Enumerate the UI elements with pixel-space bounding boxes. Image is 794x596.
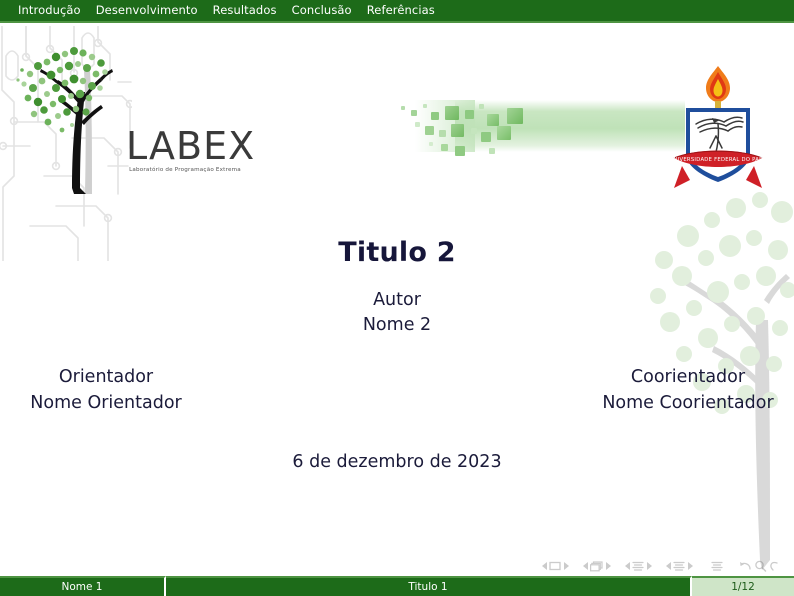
presentation-title: Titulo 2 <box>0 236 794 270</box>
seal-institution-text: UNIVERSIDADE FEDERAL DO PARÁ <box>672 156 764 163</box>
footer-author: Nome 1 <box>0 576 166 596</box>
navbar-underline <box>0 23 794 26</box>
mosaic-square <box>411 110 417 116</box>
circuit-pads-icon <box>0 40 132 222</box>
circuit-traces-icon <box>2 26 131 261</box>
mosaic-square <box>507 108 523 124</box>
mosaic-square <box>415 122 420 127</box>
next-slide-icon[interactable] <box>564 562 569 570</box>
advisors-block: Orientador Nome Orientador Coorientador … <box>0 364 794 416</box>
author-name: Nome 2 <box>0 313 794 338</box>
prev-slide-icon[interactable] <box>542 562 547 570</box>
subsection-nav-group[interactable] <box>622 561 654 572</box>
mosaic-square <box>479 104 484 109</box>
next-subsection-icon[interactable] <box>647 562 652 570</box>
author-block: Autor Nome 2 <box>0 288 794 338</box>
next-frame-icon[interactable] <box>606 562 611 570</box>
advisor-column: Orientador Nome Orientador <box>0 364 402 416</box>
slide-nav-icon[interactable] <box>549 561 561 571</box>
nav-desenvolvimento[interactable]: Desenvolvimento <box>96 0 206 22</box>
section-navigation-bar[interactable]: Introdução Desenvolvimento Resultados Co… <box>0 0 794 23</box>
goto-nav-group[interactable] <box>739 560 780 572</box>
labex-tagline: Laboratório de Programação Extrema <box>126 167 244 173</box>
mosaic-square <box>487 114 499 126</box>
author-role: Autor <box>0 288 794 313</box>
coadvisor-name: Nome Coorientador <box>582 390 794 416</box>
mosaic-square <box>401 106 405 110</box>
section-nav-group[interactable] <box>663 561 695 572</box>
mosaic-square <box>425 126 434 135</box>
document-nav-group[interactable] <box>711 561 723 572</box>
nav-introducao[interactable]: Introdução <box>18 0 89 22</box>
coadvisor-role: Coorientador <box>582 364 794 390</box>
mosaic-square <box>441 144 448 151</box>
mosaic-square <box>451 124 464 137</box>
back-nav-icon[interactable] <box>739 560 752 572</box>
mosaic-square <box>423 104 427 108</box>
footer-title: Titulo 1 <box>166 576 692 596</box>
banner-gradient-band <box>455 100 685 152</box>
frame-nav-group[interactable] <box>580 561 613 572</box>
flame-icon <box>706 66 730 102</box>
title-block: Titulo 2 Autor Nome 2 Orientador Nome Or… <box>0 236 794 474</box>
slide-nav-group[interactable] <box>539 561 571 571</box>
next-section-icon[interactable] <box>688 562 693 570</box>
mosaic-square <box>497 126 511 140</box>
labex-logo: LABEX Laboratório de Programação Extrema <box>126 126 244 182</box>
banner-left-fade <box>415 100 475 152</box>
slide-footer: Nome 1 Titulo 1 1/12 <box>0 576 794 596</box>
tree-shadow <box>84 71 92 194</box>
ufpa-seal: UNIVERSIDADE FEDERAL DO PARÁ <box>672 62 764 190</box>
tree-leaves-icon <box>16 47 107 132</box>
mosaic-square <box>481 132 491 142</box>
footer-page-number: 1/12 <box>692 576 794 596</box>
prev-frame-icon[interactable] <box>583 562 588 570</box>
presentation-date: 6 de dezembro de 2023 <box>0 450 794 474</box>
nav-conclusao[interactable]: Conclusão <box>292 0 360 22</box>
coadvisor-column: Coorientador Nome Coorientador <box>402 364 794 416</box>
beamer-navigation-symbols[interactable] <box>530 560 780 572</box>
tree-trunk-icon <box>40 69 113 194</box>
advisor-name: Nome Orientador <box>0 390 212 416</box>
nav-resultados[interactable]: Resultados <box>213 0 285 22</box>
mosaic-square <box>455 146 465 156</box>
green-mosaic-banner <box>395 100 685 152</box>
nav-referencias[interactable]: Referências <box>367 0 443 22</box>
section-nav-icon[interactable] <box>673 561 685 572</box>
mosaic-square <box>471 144 483 156</box>
document-nav-icon[interactable] <box>711 561 723 572</box>
mosaic-square <box>429 142 433 146</box>
forward-nav-icon[interactable] <box>769 560 780 572</box>
navigation-items: Introdução Desenvolvimento Resultados Co… <box>18 0 450 22</box>
labex-wordmark: LABEX <box>126 126 244 166</box>
mosaic-square <box>489 148 495 154</box>
find-nav-icon[interactable] <box>754 560 767 572</box>
circuit-tree-decoration <box>0 26 132 261</box>
frame-nav-icon[interactable] <box>590 561 603 572</box>
mosaic-square <box>445 106 459 120</box>
subsection-nav-icon[interactable] <box>632 561 644 572</box>
mosaic-square <box>465 110 474 119</box>
mosaic-square <box>439 130 446 137</box>
mosaic-square <box>471 128 477 134</box>
prev-section-icon[interactable] <box>666 562 671 570</box>
mosaic-square <box>431 112 439 120</box>
prev-subsection-icon[interactable] <box>625 562 630 570</box>
slide-canvas: Introdução Desenvolvimento Resultados Co… <box>0 0 794 596</box>
advisor-role: Orientador <box>0 364 212 390</box>
